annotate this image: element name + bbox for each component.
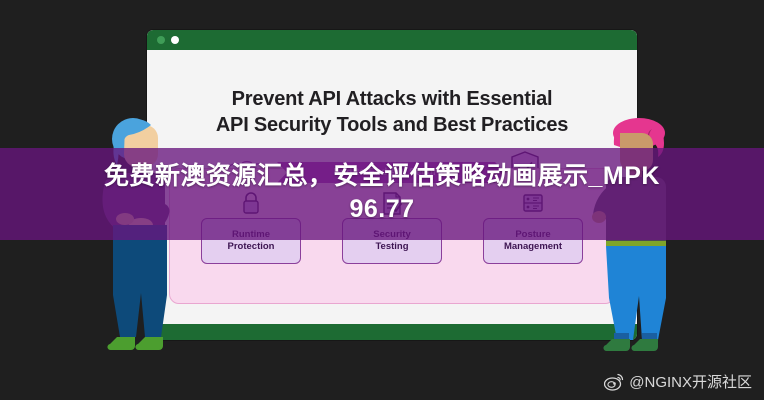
window-dot-green[interactable]: [157, 36, 165, 44]
window-dot-white[interactable]: [171, 36, 179, 44]
feature-card-security-testing-line2: Testing: [343, 241, 441, 253]
overlay-title: 免费新澳资源汇总，安全评估策略动画展示_MPK 96.77: [0, 160, 764, 226]
watermark-handle: @NGINX开源社区: [629, 371, 752, 392]
page-title-line2: API Security Tools and Best Practices: [147, 112, 637, 138]
feature-card-runtime-protection-line2: Protection: [202, 241, 300, 253]
page-title: Prevent API Attacks with Essential API S…: [147, 86, 637, 138]
watermark: @NGINX开源社区: [604, 371, 752, 392]
window-footer-bar: [147, 324, 637, 340]
weibo-icon: [604, 373, 624, 391]
page-title-line1: Prevent API Attacks with Essential: [147, 86, 637, 112]
overlay-title-line2: 96.77: [36, 193, 728, 226]
overlay-title-line1: 免费新澳资源汇总，安全评估策略动画展示_MPK: [36, 160, 728, 193]
feature-card-posture-management-line2: Management: [484, 241, 582, 253]
window-titlebar[interactable]: [147, 30, 637, 50]
screenshot-canvas: Prevent API Attacks with Essential API S…: [0, 0, 764, 400]
